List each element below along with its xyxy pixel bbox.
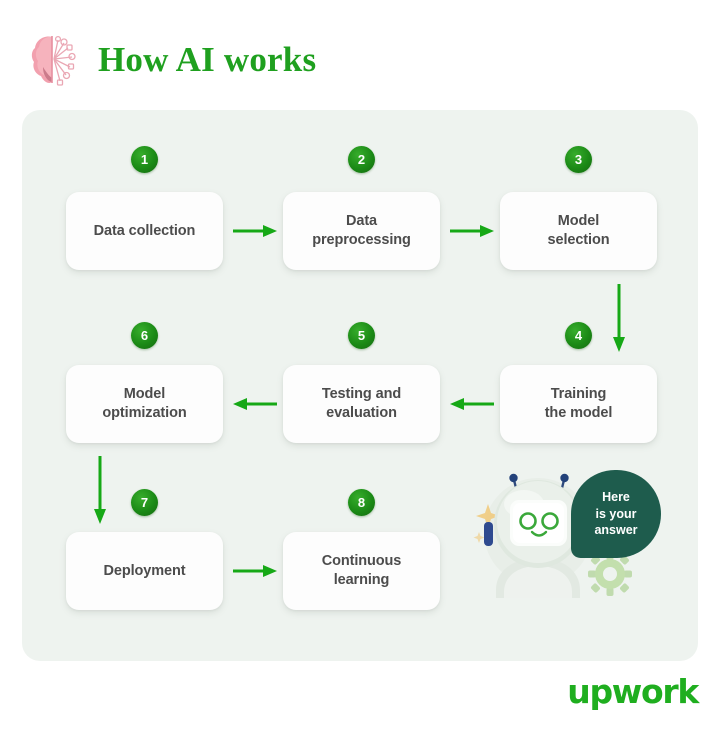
flow-box-label: Model optimization (102, 385, 186, 422)
speech-bubble-text: Here is your answer (594, 489, 637, 539)
brain-circuit-icon (30, 31, 84, 89)
arrow-5-to-6-icon (232, 396, 278, 412)
flow-box-label: Model selection (548, 212, 610, 249)
step-number: 2 (358, 152, 365, 167)
step-badge-6: 6 (131, 322, 158, 349)
flow-box-label: Continuous learning (322, 552, 402, 589)
upwork-logo: upwork (567, 672, 698, 711)
step-badge-8: 8 (348, 489, 375, 516)
step-badge-4: 4 (565, 322, 592, 349)
step-number: 1 (141, 152, 148, 167)
speech-bubble: Here is your answer (571, 470, 661, 558)
arrow-2-to-3-icon (449, 223, 495, 239)
flow-box-testing-and-evaluation[interactable]: Testing and evaluation (283, 365, 440, 443)
flow-box-training-the-model[interactable]: Training the model (500, 365, 657, 443)
flow-box-deployment[interactable]: Deployment (66, 532, 223, 610)
arrow-4-to-5-icon (449, 396, 495, 412)
step-number: 8 (358, 495, 365, 510)
flow-box-continuous-learning[interactable]: Continuous learning (283, 532, 440, 610)
flow-box-model-optimization[interactable]: Model optimization (66, 365, 223, 443)
flow-box-data-collection[interactable]: Data collection (66, 192, 223, 270)
step-badge-1: 1 (131, 146, 158, 173)
step-badge-3: 3 (565, 146, 592, 173)
flow-box-label: Deployment (104, 562, 186, 581)
arrow-6-to-7-icon (92, 455, 108, 525)
step-number: 4 (575, 328, 582, 343)
flow-box-model-selection[interactable]: Model selection (500, 192, 657, 270)
step-badge-7: 7 (131, 489, 158, 516)
flow-box-data-preprocessing[interactable]: Data preprocessing (283, 192, 440, 270)
step-number: 3 (575, 152, 582, 167)
step-number: 7 (141, 495, 148, 510)
step-number: 6 (141, 328, 148, 343)
step-badge-5: 5 (348, 322, 375, 349)
arrow-3-to-4-icon (611, 283, 627, 353)
flow-box-label: Data collection (94, 222, 196, 241)
flow-box-label: Training the model (545, 385, 613, 422)
flow-box-label: Testing and evaluation (322, 385, 401, 422)
flow-box-label: Data preprocessing (312, 212, 411, 249)
arrow-1-to-2-icon (232, 223, 278, 239)
arrow-7-to-8-icon (232, 563, 278, 579)
gear-icon (588, 552, 632, 596)
step-number: 5 (358, 328, 365, 343)
page-header: How AI works (30, 22, 316, 98)
step-badge-2: 2 (348, 146, 375, 173)
page-title: How AI works (98, 40, 316, 80)
